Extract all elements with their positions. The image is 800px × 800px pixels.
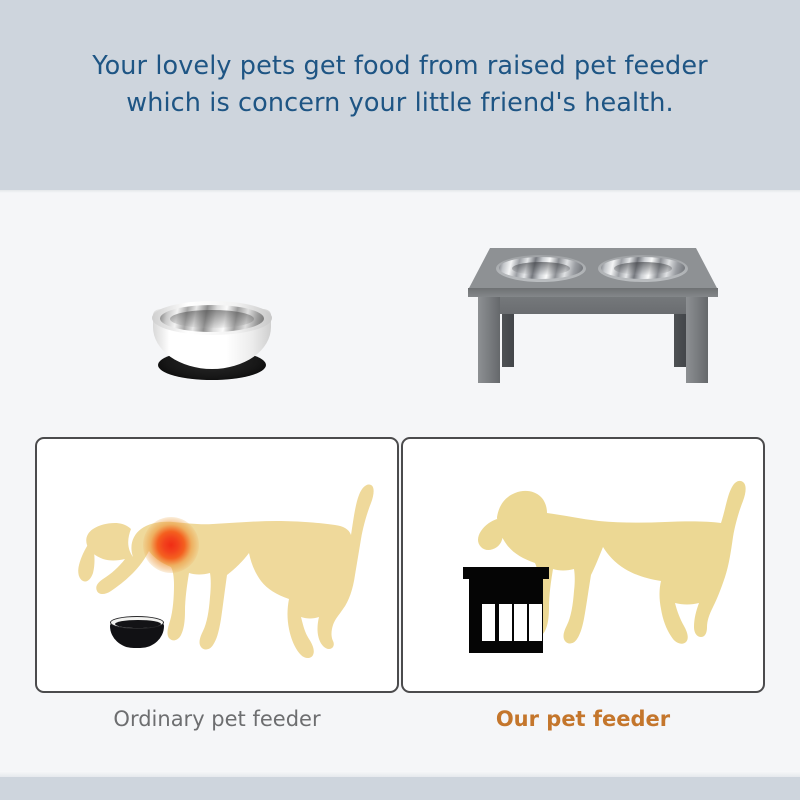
- comparison-card-ours: [401, 437, 765, 693]
- floor-bowl-rim: [110, 616, 164, 629]
- feeder-icon-slot-4: [529, 604, 542, 641]
- feeder-icon-slot-2: [499, 604, 512, 641]
- dog-standing-illustration: [403, 439, 763, 691]
- caption-ordinary: Ordinary pet feeder: [35, 705, 399, 733]
- comparison-card-ordinary: [35, 437, 399, 693]
- promo-page: Your lovely pets get food from raised pe…: [0, 0, 800, 800]
- pain-indicator-icon: [143, 517, 199, 573]
- comparison-section: Ordinary pet feeder Our pet feeder: [0, 0, 800, 800]
- feeder-icon-body: [469, 577, 543, 653]
- caption-ours: Our pet feeder: [401, 705, 765, 733]
- raised-feeder-icon: [463, 567, 549, 653]
- feeder-icon-slot-3: [514, 604, 527, 641]
- ordinary-floor-bowl-icon: [110, 616, 164, 648]
- footer-band: [0, 777, 800, 800]
- floor-bowl-rim-inner: [115, 620, 161, 628]
- dog-bending-illustration: [37, 439, 397, 691]
- feeder-icon-slot-1: [482, 604, 495, 641]
